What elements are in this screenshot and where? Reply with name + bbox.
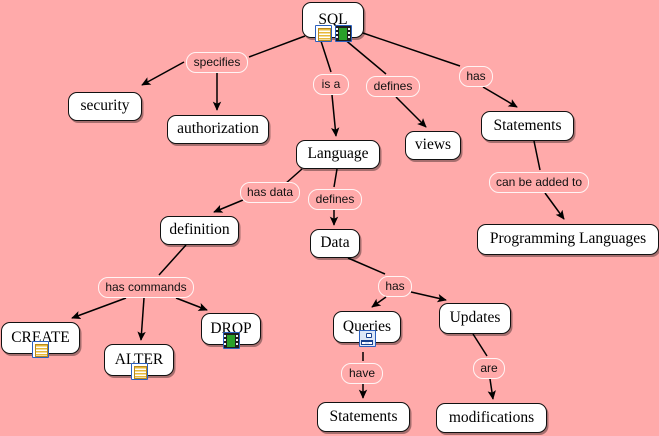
edge-statements-canbeadded xyxy=(534,141,540,170)
concept-node-label: Data xyxy=(312,235,357,251)
document-icon[interactable] xyxy=(32,341,49,358)
edge-has-queries xyxy=(372,297,386,307)
film-icon[interactable] xyxy=(223,332,240,349)
concept-node-label: security xyxy=(72,98,137,114)
edge-updates-are xyxy=(473,334,487,356)
concept-node-label: definition xyxy=(161,222,237,238)
concept-node-label: modifications xyxy=(441,410,542,426)
concept-node-updates[interactable]: Updates xyxy=(439,303,511,334)
link-phrase-has_commands[interactable]: has commands xyxy=(98,277,194,298)
resource-icons-drop[interactable] xyxy=(223,332,240,349)
concept-node-statements_bottom[interactable]: Statements xyxy=(317,402,410,432)
concept-node-programming_languages[interactable]: Programming Languages xyxy=(477,224,659,255)
link-phrase-have[interactable]: have xyxy=(341,363,383,384)
concept-node-label: Language xyxy=(299,146,376,162)
concept-node-label: Programming Languages xyxy=(482,231,654,247)
resource-icons-queries[interactable] xyxy=(359,330,376,347)
concept-node-label: authorization xyxy=(169,121,267,137)
concept-node-label: Statements xyxy=(321,409,405,425)
edge-sql-isa xyxy=(320,38,331,72)
resource-icons-alter[interactable] xyxy=(131,363,148,380)
document-icon[interactable] xyxy=(131,363,148,380)
concept-map-icon[interactable] xyxy=(359,330,376,347)
edge-sql-specifies xyxy=(249,36,305,57)
concept-node-label: views xyxy=(407,137,459,153)
edge-canbeadded-proglang xyxy=(545,193,564,219)
resource-icons-sql[interactable] xyxy=(315,25,352,42)
film-icon[interactable] xyxy=(335,25,352,42)
link-phrase-is_a[interactable]: is a xyxy=(313,74,349,95)
concept-node-statements_top[interactable]: Statements xyxy=(481,111,574,141)
link-phrase-defines_data[interactable]: defines xyxy=(308,189,362,210)
edge-are-modifications xyxy=(490,379,493,399)
edge-has-updates xyxy=(411,292,446,300)
concept-node-views[interactable]: views xyxy=(405,131,461,160)
concept-node-label: Statements xyxy=(485,118,569,134)
concept-node-language[interactable]: Language xyxy=(296,140,380,169)
edge-has-statements xyxy=(483,87,517,107)
edge-hascommands-alter xyxy=(141,298,144,340)
concept-node-modifications[interactable]: modifications xyxy=(436,403,547,433)
link-phrase-has_statements[interactable]: has xyxy=(459,66,493,87)
concept-node-label: Updates xyxy=(442,310,509,326)
edge-data-has xyxy=(348,258,385,274)
link-phrase-has_queries[interactable]: has xyxy=(378,276,412,297)
concept-map-canvas[interactable]: SQLsecurityauthorizationLanguageviewsSta… xyxy=(0,0,659,436)
link-phrase-defines_views[interactable]: defines xyxy=(366,76,420,97)
edge-hasdata-definition xyxy=(214,200,243,212)
edge-isa-language xyxy=(332,95,336,136)
edge-layer xyxy=(0,0,659,436)
edge-sql-has xyxy=(360,32,460,66)
link-phrase-specifies[interactable]: specifies xyxy=(186,52,248,73)
edge-sql-definesviews xyxy=(343,38,386,74)
concept-node-definition[interactable]: definition xyxy=(160,216,239,245)
link-phrase-can_be_added_to[interactable]: can be added to xyxy=(489,172,589,193)
document-icon[interactable] xyxy=(315,25,332,42)
concept-node-data[interactable]: Data xyxy=(310,229,360,258)
edge-definesviews-views xyxy=(396,97,426,127)
concept-node-security[interactable]: security xyxy=(68,92,142,121)
edge-language-definesdata xyxy=(334,169,337,187)
edge-specifies-security xyxy=(142,62,184,85)
link-phrase-are[interactable]: are xyxy=(473,358,505,379)
resource-icons-create[interactable] xyxy=(32,341,49,358)
edge-hascommands-create xyxy=(72,298,126,318)
concept-node-authorization[interactable]: authorization xyxy=(167,115,269,144)
link-phrase-has_data[interactable]: has data xyxy=(240,182,300,203)
edge-definition-hascommands xyxy=(159,245,186,275)
edge-hascommands-drop xyxy=(176,298,207,310)
